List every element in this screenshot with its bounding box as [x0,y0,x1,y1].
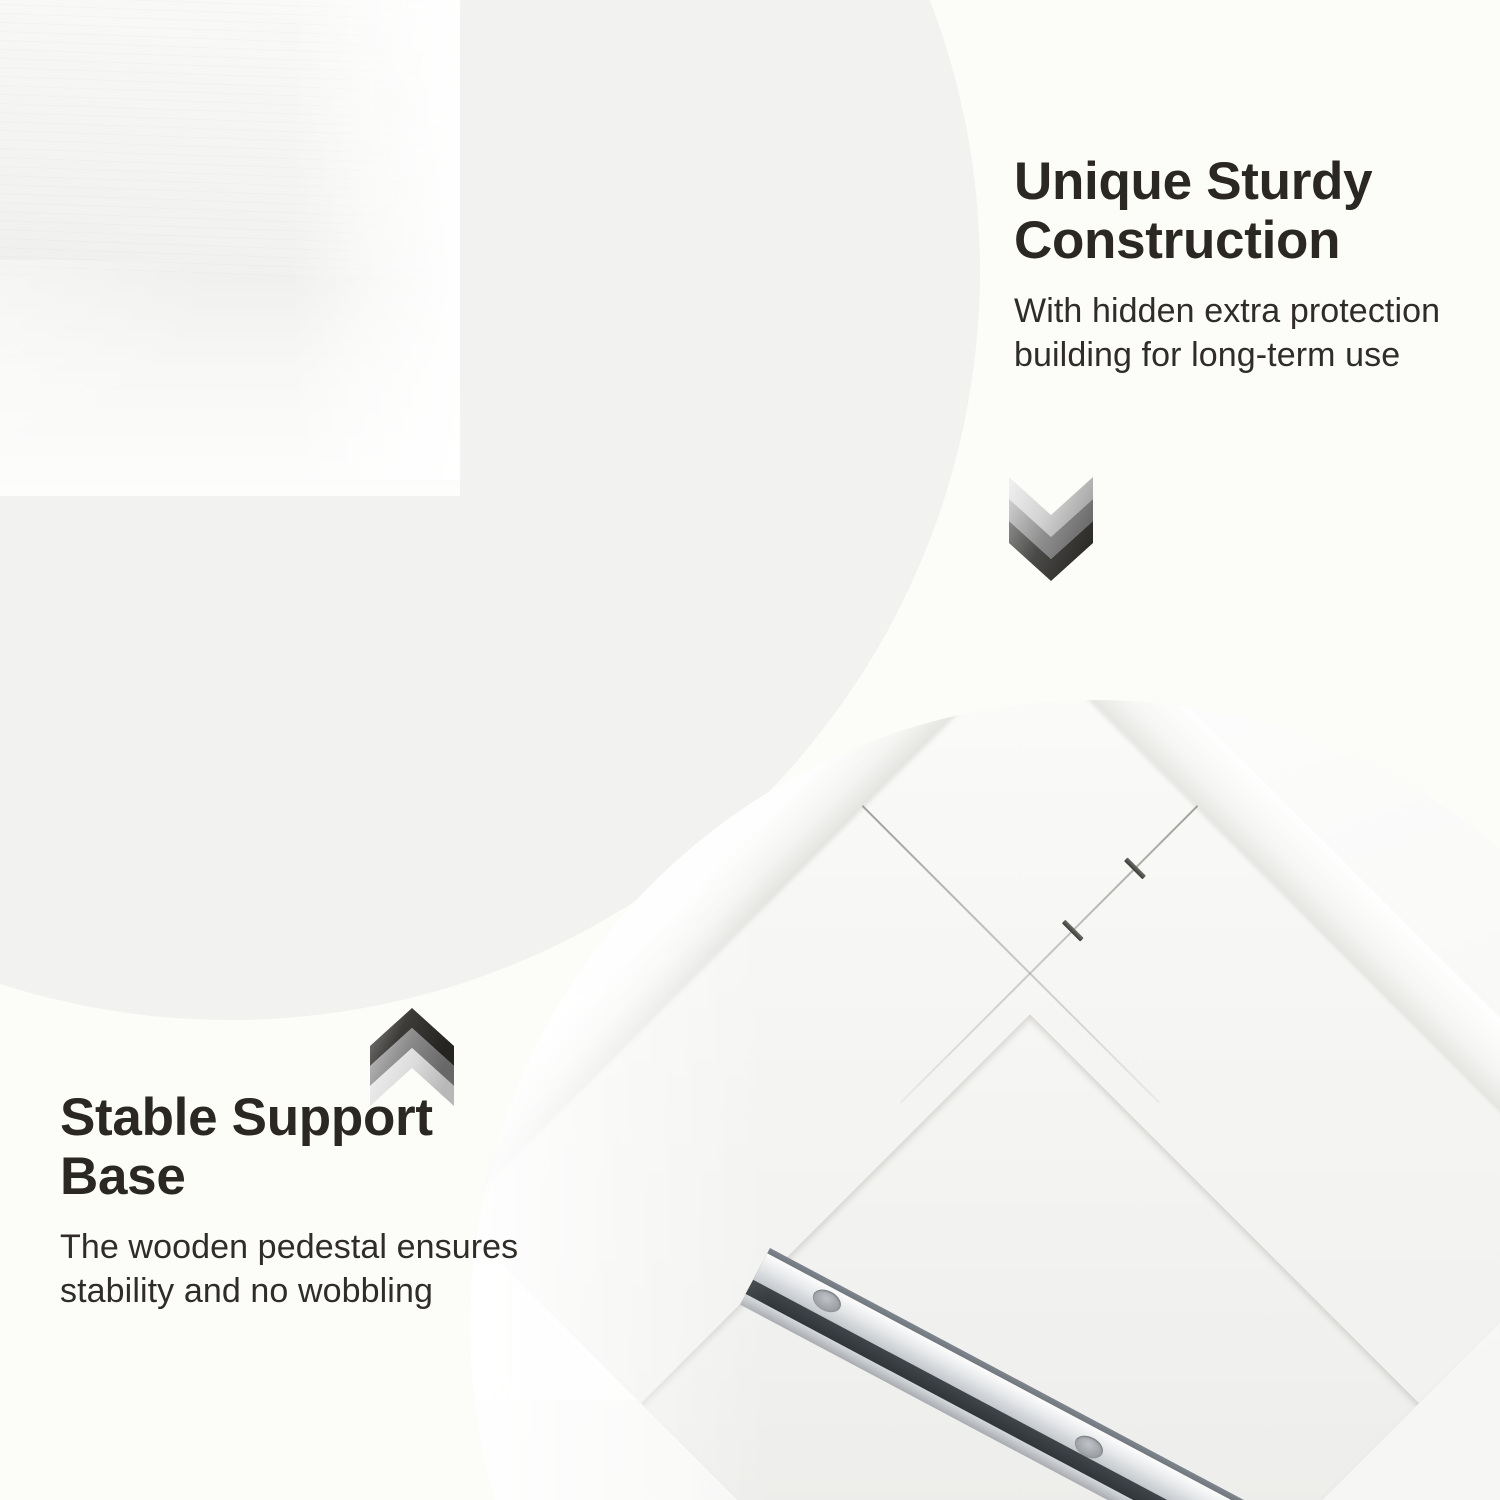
infographic-canvas: Unique Sturdy Construction With hidden e… [0,0,1500,1500]
photo-edge-highlight [290,0,460,480]
chevrons-down-icon [1005,475,1097,583]
feature-description: With hidden extra protection building fo… [1014,289,1464,377]
feature-title: Unique Sturdy Construction [1014,152,1464,271]
feature-block-construction: Unique Sturdy Construction With hidden e… [1014,152,1464,377]
photo-support-base-detail [470,700,1500,1500]
feature-title: Stable Support Base [60,1088,530,1207]
chevrons-up-icon [366,1008,458,1108]
floor-highlight [0,260,260,540]
feature-block-support-base: Stable Support Base The wooden pedestal … [60,1088,530,1313]
feature-description: The wooden pedestal ensures stability an… [60,1225,530,1313]
